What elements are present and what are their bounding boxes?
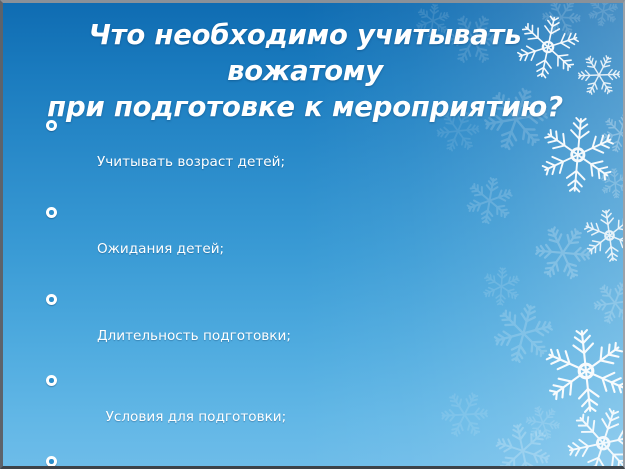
presentation-slide: Что необходимо учитывать вожатому при по… — [0, 0, 625, 469]
ring-bullet-icon — [46, 294, 57, 305]
ring-bullet-icon — [46, 375, 57, 386]
ring-bullet-icon — [46, 207, 57, 218]
list-item-text: Ожидания детей; — [97, 241, 224, 257]
list-item: Условия для подготовки; — [45, 371, 545, 445]
list-item-text: Условия для подготовки; — [97, 409, 286, 425]
list-item: Возможности вожатых, их умение организов… — [45, 452, 565, 469]
ring-bullet-icon — [46, 456, 57, 467]
bullet-list: Учитывать возраст детей; Ожидания детей;… — [45, 116, 545, 469]
list-item-text: Учитывать возраст детей; — [97, 154, 285, 170]
ring-bullet-icon — [46, 120, 57, 131]
slide-title: Что необходимо учитывать вожатому при по… — [25, 17, 585, 125]
list-item: Длительность подготовки; — [45, 290, 545, 364]
list-item: Учитывать возраст детей; — [45, 116, 545, 190]
list-item: Ожидания детей; — [45, 203, 545, 277]
list-item-text: Длительность подготовки; — [97, 328, 291, 344]
